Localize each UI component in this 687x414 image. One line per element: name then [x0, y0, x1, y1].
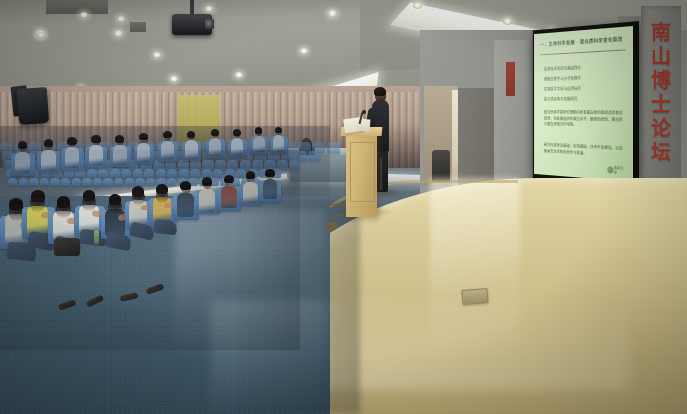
audience-member-torso — [243, 182, 258, 203]
audience-chair — [144, 169, 154, 178]
audience-chair — [167, 178, 176, 186]
banner-char: 士 — [651, 94, 671, 114]
microphone-icon — [362, 110, 366, 114]
audience-member-torso — [137, 143, 151, 162]
wall-speaker-icon — [17, 87, 49, 125]
audience-chair — [167, 169, 177, 178]
audience-chair — [327, 142, 340, 154]
audience-chair — [110, 169, 120, 178]
audience-member-hair — [246, 171, 256, 179]
audience-member-torso — [185, 140, 198, 158]
audience-chair — [308, 151, 320, 162]
audience-chair — [98, 169, 108, 178]
audience-chair — [72, 178, 81, 186]
footwear — [146, 283, 165, 295]
slide-bullet: 蛋白质结构与功能研究 — [544, 96, 628, 102]
audience-chair — [40, 178, 49, 186]
audience-member-hair — [275, 127, 282, 133]
audience-member-torso — [113, 145, 127, 165]
audience-member-hair — [156, 190, 168, 202]
footwear — [58, 299, 77, 310]
audience-chair — [133, 169, 143, 178]
downlight — [170, 76, 178, 82]
projection-screen[interactable]: 一、生命科学发展 · 蛋白质科学变化局改 生物技术的研究基础理论 细胞生物学与分… — [534, 26, 633, 182]
audience-member-torso — [89, 145, 103, 165]
slide-title: 一、生命科学发展 · 蛋白质科学变化局改 — [540, 36, 627, 49]
downlight — [503, 18, 512, 25]
audience-chair — [190, 169, 200, 178]
slide-title-rule — [540, 50, 625, 56]
banner-char: 南 — [651, 22, 671, 42]
downlight — [235, 72, 243, 78]
downlight — [37, 32, 45, 38]
audience-member-hair — [163, 131, 172, 138]
audience-chair — [236, 169, 246, 178]
audience-chair — [61, 178, 70, 186]
audience-member-hair — [202, 177, 213, 186]
slide-bullet: 生物医学工程与应用技术 — [544, 85, 628, 92]
audience-member-hair — [108, 201, 122, 215]
slide-bullet: 生物技术的研究基础理论 — [544, 64, 628, 73]
audience-member-torso — [199, 189, 215, 212]
audience-member-torso — [273, 135, 285, 151]
audience-member-hair — [44, 139, 54, 147]
banner-char: 坛 — [651, 142, 671, 162]
downlight — [328, 10, 337, 17]
audience-member-hair — [82, 197, 96, 211]
audience-member-hair — [115, 135, 124, 143]
ceiling-vent — [46, 0, 108, 14]
banner-char: 博 — [651, 70, 671, 90]
downlight — [205, 6, 213, 12]
audience-member-hair — [132, 192, 145, 205]
ceiling-vent — [130, 22, 146, 32]
audience-member-torso — [209, 138, 222, 156]
doorway[interactable] — [458, 88, 496, 186]
audience-member-hair — [180, 181, 191, 191]
presenter-leg-gap — [380, 158, 382, 190]
downlight — [300, 48, 308, 54]
audience-member-hair — [18, 141, 28, 150]
banner-char: 论 — [651, 118, 671, 138]
audience-member-hair — [187, 131, 195, 138]
audience-member-hair — [56, 203, 71, 218]
floor-outlet-panel — [462, 288, 489, 305]
audience-member-hair — [30, 197, 45, 212]
downlight — [80, 12, 88, 18]
slide-paragraph: 研究内容涉及基础、应用基础、技术平台建设，以及相关交叉学科的合作与发展。 — [544, 142, 625, 159]
audience-member-hair — [265, 169, 274, 177]
audience-member-torso — [41, 150, 56, 171]
audience-chair — [87, 169, 97, 178]
audience-chair — [121, 169, 131, 178]
presenter-hair — [374, 87, 386, 96]
audience-member-torso — [263, 179, 277, 199]
audience-chair — [50, 178, 59, 186]
slide-bullet: 细胞生物学与分子生物学 — [544, 75, 628, 83]
university-logo: 南京大学 — [607, 166, 626, 175]
lectern-front-panel — [350, 142, 375, 202]
footwear — [86, 294, 105, 307]
downlight — [114, 30, 123, 37]
audience-chair — [289, 160, 300, 170]
audience-member-torso — [161, 141, 174, 160]
logo-mark-icon — [607, 166, 613, 173]
banner-char: 山 — [651, 46, 671, 66]
audience-member-torso — [221, 186, 237, 208]
audience-member-hair — [233, 129, 241, 136]
slide-paragraph: 蛋白质组学是研究细胞内所有蛋白质的组成及其变化规律，包括蛋白质的表达水平、翻译后… — [544, 110, 625, 130]
audience-member-torso — [65, 147, 80, 168]
audience-chair — [29, 178, 38, 186]
handbag — [54, 238, 80, 256]
downlight — [413, 2, 422, 9]
downlight — [117, 16, 125, 22]
audience-member-torso — [177, 193, 194, 217]
audience-member-hair — [139, 133, 148, 141]
audience-member-hair — [211, 129, 219, 136]
audience-chair — [213, 169, 223, 178]
audience-section — [0, 126, 330, 356]
audience-chair — [93, 178, 102, 186]
audience-chair — [179, 169, 189, 178]
downlight — [153, 52, 161, 58]
audience-member-hair — [67, 137, 76, 145]
audience-member-hair — [91, 135, 100, 143]
audience-chair — [146, 178, 155, 186]
audience-chair — [135, 178, 144, 186]
audience-member-hair — [255, 127, 263, 134]
audience-chair — [156, 169, 166, 178]
logo-text: 南京大学 — [614, 165, 627, 176]
lecture-hall-photo: 一、生命科学发展 · 蛋白质科学变化局改 生物技术的研究基础理论 细胞生物学与分… — [0, 0, 687, 414]
audience-member-torso — [253, 136, 265, 153]
audience-chair — [19, 178, 28, 186]
projector-lens-icon — [205, 19, 214, 29]
audience-chair — [114, 178, 123, 186]
water-bottle — [94, 230, 99, 244]
audience-chair — [103, 178, 112, 186]
audience-chair — [8, 178, 17, 186]
audience-chair — [82, 178, 91, 186]
audience-member-hair — [224, 175, 234, 184]
audience-chair — [125, 178, 134, 186]
lectern-papers — [356, 118, 371, 131]
footwear — [120, 292, 139, 302]
audience-member-torso — [15, 152, 30, 174]
wall-poster — [506, 62, 515, 96]
audience-member-torso — [231, 138, 243, 155]
